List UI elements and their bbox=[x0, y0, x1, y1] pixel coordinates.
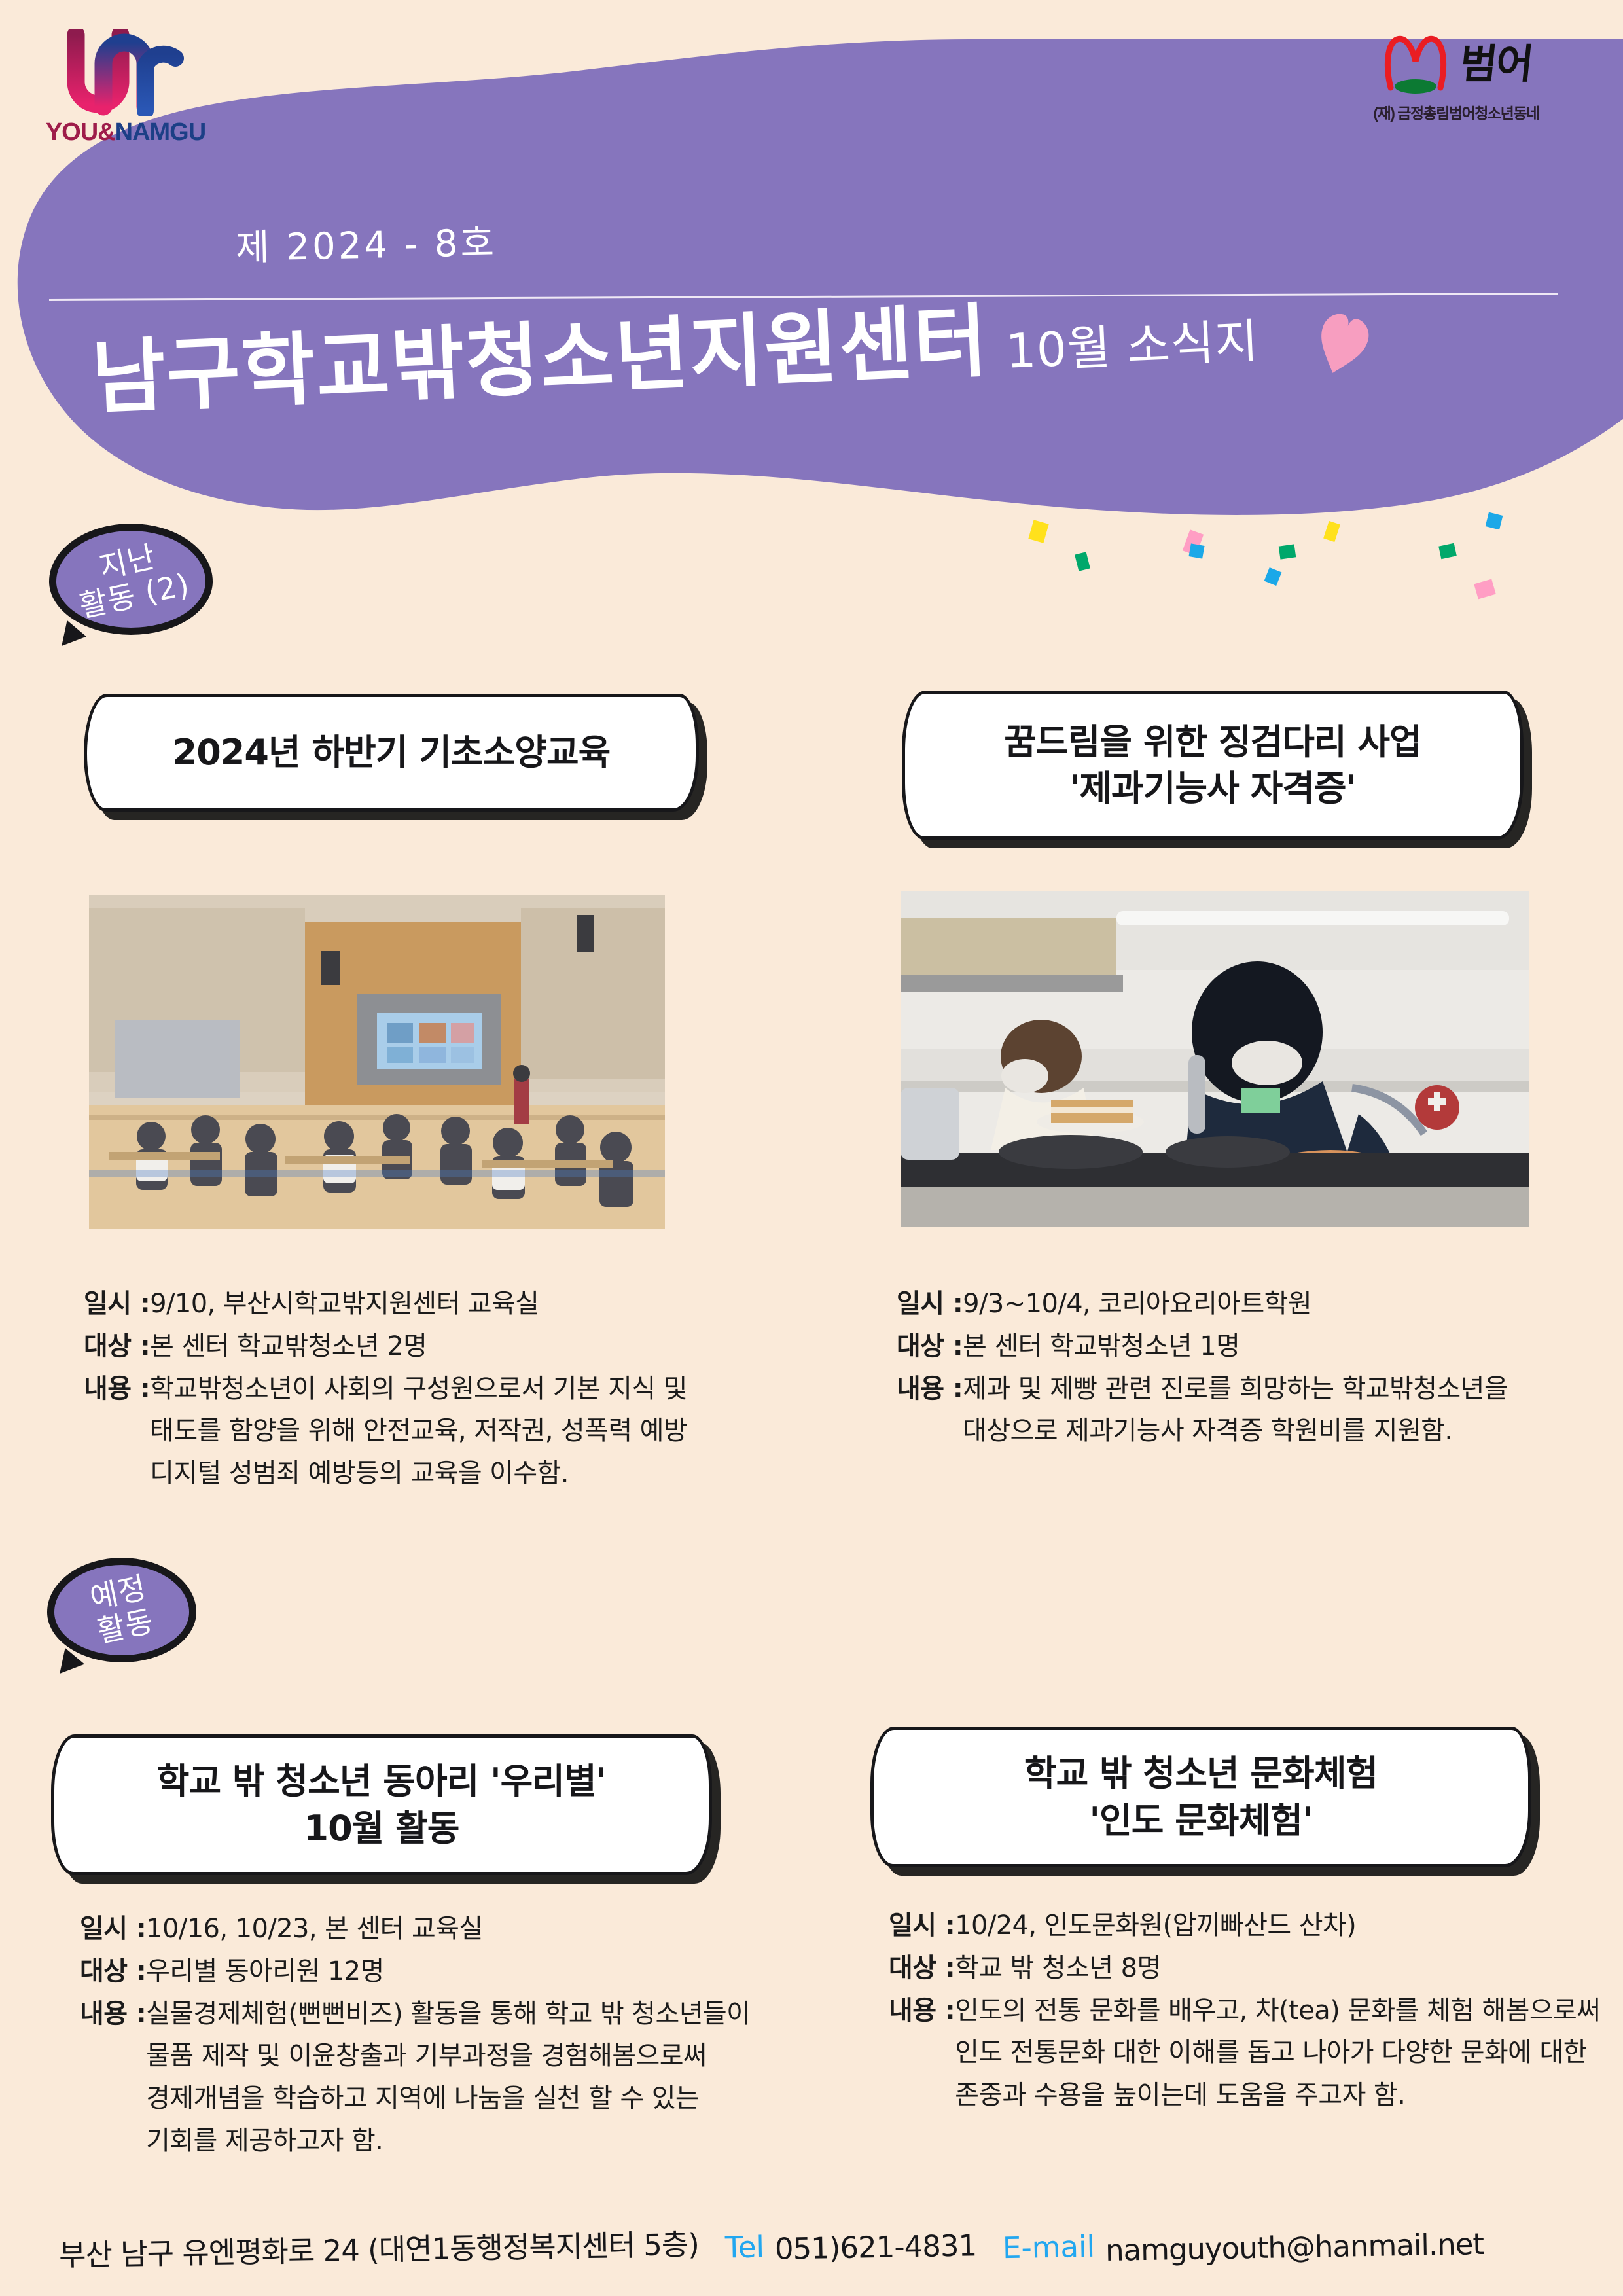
footer-tel-label: Tel bbox=[724, 2229, 764, 2265]
issue-number: 제 2024 - 8호 bbox=[235, 213, 497, 272]
activity-details-3: 일시 : 10/16, 10/23, 본 센터 교육실 대상 : 우리별 동아리… bbox=[80, 1908, 852, 2162]
confetti-piece bbox=[1323, 521, 1340, 542]
confetti-piece bbox=[1188, 543, 1204, 558]
activity-card-title-2: 꿈드림을 위한 징검다리 사업 '제과기능사 자격증' bbox=[902, 691, 1524, 840]
detail-value-date: 9/3~10/4, 코리아요리아트학원 bbox=[963, 1283, 1623, 1325]
footer-contact-bar: 부산 남구 유엔평화로 24 (대연1동행정복지센터 5층) Tel 051)6… bbox=[0, 2198, 1623, 2296]
bubble-tail bbox=[60, 1648, 87, 1678]
activity-card-title-2-text: 꿈드림을 위한 징검다리 사업 '제과기능사 자격증' bbox=[1004, 719, 1421, 812]
detail-value-target: 학교 밖 청소년 8명 bbox=[955, 1947, 1623, 1990]
detail-value-content: 실물경제체험(뻔뻔비즈) 활동을 통해 학교 밖 청소년들이물품 제작 및 이윤… bbox=[146, 1993, 852, 2162]
activity-card-title-4: 학교 밖 청소년 문화체험 '인도 문화체험' bbox=[870, 1727, 1531, 1867]
detail-content-line: 디지털 성범죄 예방등의 교육을 이수함. bbox=[150, 1452, 823, 1495]
baking-class-photo bbox=[901, 891, 1529, 1227]
activity-card-title-3-text: 학교 밖 청소년 동아리 '우리별' 10월 활동 bbox=[157, 1758, 606, 1852]
detail-row-date: 일시 : 10/16, 10/23, 본 센터 교육실 bbox=[80, 1908, 852, 1950]
upcoming-activities-badge: 예정 활동 bbox=[47, 1558, 196, 1662]
footer-email-label: E-mail bbox=[1002, 2229, 1095, 2265]
detail-row-content: 내용 : 제과 및 제빵 관련 진로를 희망하는 학교밖청소년을대상으로 제과기… bbox=[897, 1368, 1623, 1453]
detail-row-target: 대상 : 본 센터 학교밖청소년 2명 bbox=[84, 1325, 823, 1368]
detail-label-content: 내용 : bbox=[889, 1990, 955, 2117]
past-activities-badge: 지난 활동 (2) bbox=[49, 524, 213, 635]
detail-content-line: 경제개념을 학습하고 지역에 나눔을 실천 할 수 있는 bbox=[146, 2077, 852, 2120]
detail-label-date: 일시 : bbox=[897, 1283, 963, 1325]
detail-label-content: 내용 : bbox=[84, 1368, 150, 1495]
heart-outline-icon bbox=[1380, 33, 1451, 96]
detail-content-line: 실물경제체험(뻔뻔비즈) 활동을 통해 학교 밖 청소년들이 bbox=[146, 1993, 852, 2036]
detail-row-date: 일시 : 9/3~10/4, 코리아요리아트학원 bbox=[897, 1283, 1623, 1325]
detail-row-target: 대상 : 본 센터 학교밖청소년 1명 bbox=[897, 1325, 1623, 1368]
logo-wordmark-you: YOU& bbox=[46, 118, 115, 146]
activity-details-2: 일시 : 9/3~10/4, 코리아요리아트학원 대상 : 본 센터 학교밖청소… bbox=[897, 1283, 1623, 1452]
detail-content-line: 기회를 제공하고자 함. bbox=[146, 2120, 852, 2162]
detail-row-date: 일시 : 9/10, 부산시학교밖지원센터 교육실 bbox=[84, 1283, 823, 1325]
detail-value-target: 본 센터 학교밖청소년 1명 bbox=[963, 1325, 1623, 1368]
detail-content-line: 인도 전통문화 대한 이해를 돕고 나아가 다양한 문화에 대한 bbox=[955, 2032, 1623, 2074]
detail-label-date: 일시 : bbox=[889, 1905, 955, 1947]
detail-content-line: 물품 제작 및 이윤창출과 기부과정을 경험해봄으로써 bbox=[146, 2035, 852, 2077]
detail-content-line: 대상으로 제과기능사 자격증 학원비를 지원함. bbox=[963, 1410, 1623, 1452]
activity-card-title-1-text: 2024년 하반기 기초소양교육 bbox=[173, 729, 611, 776]
detail-content-line: 존중과 수용을 높이는데 도움을 주고자 함. bbox=[955, 2074, 1623, 2117]
detail-value-content: 인도의 전통 문화를 배우고, 차(tea) 문화를 체험 해봄으로써인도 전통… bbox=[955, 1990, 1623, 2117]
detail-value-date: 10/16, 10/23, 본 센터 교육실 bbox=[146, 1908, 852, 1950]
detail-value-content: 제과 및 제빵 관련 진로를 희망하는 학교밖청소년을대상으로 제과기능사 자격… bbox=[963, 1368, 1623, 1453]
detail-label-target: 대상 : bbox=[897, 1325, 963, 1368]
confetti-piece bbox=[1028, 520, 1048, 543]
detail-row-date: 일시 : 10/24, 인도문화원(압끼빠산드 산차) bbox=[889, 1905, 1623, 1947]
confetti-piece bbox=[1486, 512, 1503, 530]
detail-label-content: 내용 : bbox=[897, 1368, 963, 1453]
detail-value-date: 9/10, 부산시학교밖지원센터 교육실 bbox=[150, 1283, 823, 1325]
activity-details-1: 일시 : 9/10, 부산시학교밖지원센터 교육실 대상 : 본 센터 학교밖청… bbox=[84, 1283, 823, 1495]
detail-content-line: 학교밖청소년이 사회의 구성원으로서 기본 지식 및 bbox=[150, 1368, 823, 1410]
detail-value-content: 학교밖청소년이 사회의 구성원으로서 기본 지식 및태도를 함양을 위해 안전교… bbox=[150, 1368, 823, 1495]
page-title-sub: 10월 소식지 bbox=[1005, 317, 1260, 380]
detail-label-date: 일시 : bbox=[80, 1908, 146, 1950]
past-activities-badge-label: 지난 활동 (2) bbox=[69, 535, 192, 624]
detail-content-line: 태도를 함양을 위해 안전교육, 저작권, 성폭력 예방 bbox=[150, 1410, 823, 1452]
detail-label-target: 대상 : bbox=[84, 1325, 150, 1368]
activity-details-4: 일시 : 10/24, 인도문화원(압끼빠산드 산차) 대상 : 학교 밖 청소… bbox=[889, 1905, 1623, 2117]
activity-card-title-3: 학교 밖 청소년 동아리 '우리별' 10월 활동 bbox=[51, 1734, 712, 1875]
footer-tel: Tel 051)621-4831 bbox=[725, 2230, 976, 2265]
activity-card-title-1: 2024년 하반기 기초소양교육 bbox=[84, 694, 699, 812]
confetti-piece bbox=[1474, 579, 1496, 600]
footer-email: E-mail namguyouth@hanmail.net bbox=[1003, 2230, 1484, 2265]
logo-wordmark-namgu: NAMGU bbox=[115, 118, 206, 146]
detail-label-content: 내용 : bbox=[80, 1993, 146, 2162]
bubble-tail bbox=[62, 620, 89, 651]
upcoming-activities-badge-label: 예정 활동 bbox=[87, 1571, 156, 1649]
detail-value-date: 10/24, 인도문화원(압끼빠산드 산차) bbox=[955, 1905, 1623, 1947]
detail-content-line: 제과 및 제빵 관련 진로를 희망하는 학교밖청소년을 bbox=[963, 1368, 1623, 1410]
confetti-piece bbox=[1279, 544, 1296, 559]
lecture-hall-seminar-photo bbox=[89, 895, 665, 1229]
detail-label-target: 대상 : bbox=[80, 1950, 146, 1993]
footer-address: 부산 남구 유엔평화로 24 (대연1동행정복지센터 5층) bbox=[59, 2220, 700, 2274]
detail-row-target: 대상 : 학교 밖 청소년 8명 bbox=[889, 1947, 1623, 1990]
detail-value-target: 우리별 동아리원 12명 bbox=[146, 1950, 852, 1993]
confetti-piece bbox=[1264, 567, 1282, 586]
detail-row-target: 대상 : 우리별 동아리원 12명 bbox=[80, 1950, 852, 1993]
detail-content-line: 인도의 전통 문화를 배우고, 차(tea) 문화를 체험 해봄으로써 bbox=[955, 1990, 1623, 2032]
beomeo-brand-text: 범어 bbox=[1458, 44, 1535, 84]
beomeo-logo: 범어 (재) 금정총림범어청소년동네 bbox=[1332, 33, 1580, 123]
you-and-namgu-logo: YOU&NAMGU bbox=[34, 29, 217, 147]
footer-tel-value: 051)621-4831 bbox=[774, 2228, 976, 2266]
detail-row-content: 내용 : 실물경제체험(뻔뻔비즈) 활동을 통해 학교 밖 청소년들이물품 제작… bbox=[80, 1993, 852, 2162]
logo-wordmark: YOU&NAMGU bbox=[34, 118, 217, 147]
detail-value-target: 본 센터 학교밖청소년 2명 bbox=[150, 1325, 823, 1368]
confetti-piece bbox=[1075, 552, 1090, 571]
detail-row-content: 내용 : 인도의 전통 문화를 배우고, 차(tea) 문화를 체험 해봄으로써… bbox=[889, 1990, 1623, 2117]
detail-label-date: 일시 : bbox=[84, 1283, 150, 1325]
beomeo-caption: (재) 금정총림범어청소년동네 bbox=[1332, 101, 1580, 123]
detail-label-target: 대상 : bbox=[889, 1947, 955, 1990]
confetti-piece bbox=[1438, 543, 1457, 560]
activity-card-title-4-text: 학교 밖 청소년 문화체험 '인도 문화체험' bbox=[1024, 1750, 1378, 1844]
footer-email-value[interactable]: namguyouth@hanmail.net bbox=[1105, 2226, 1484, 2267]
detail-row-content: 내용 : 학교밖청소년이 사회의 구성원으로서 기본 지식 및태도를 함양을 위… bbox=[84, 1368, 823, 1495]
